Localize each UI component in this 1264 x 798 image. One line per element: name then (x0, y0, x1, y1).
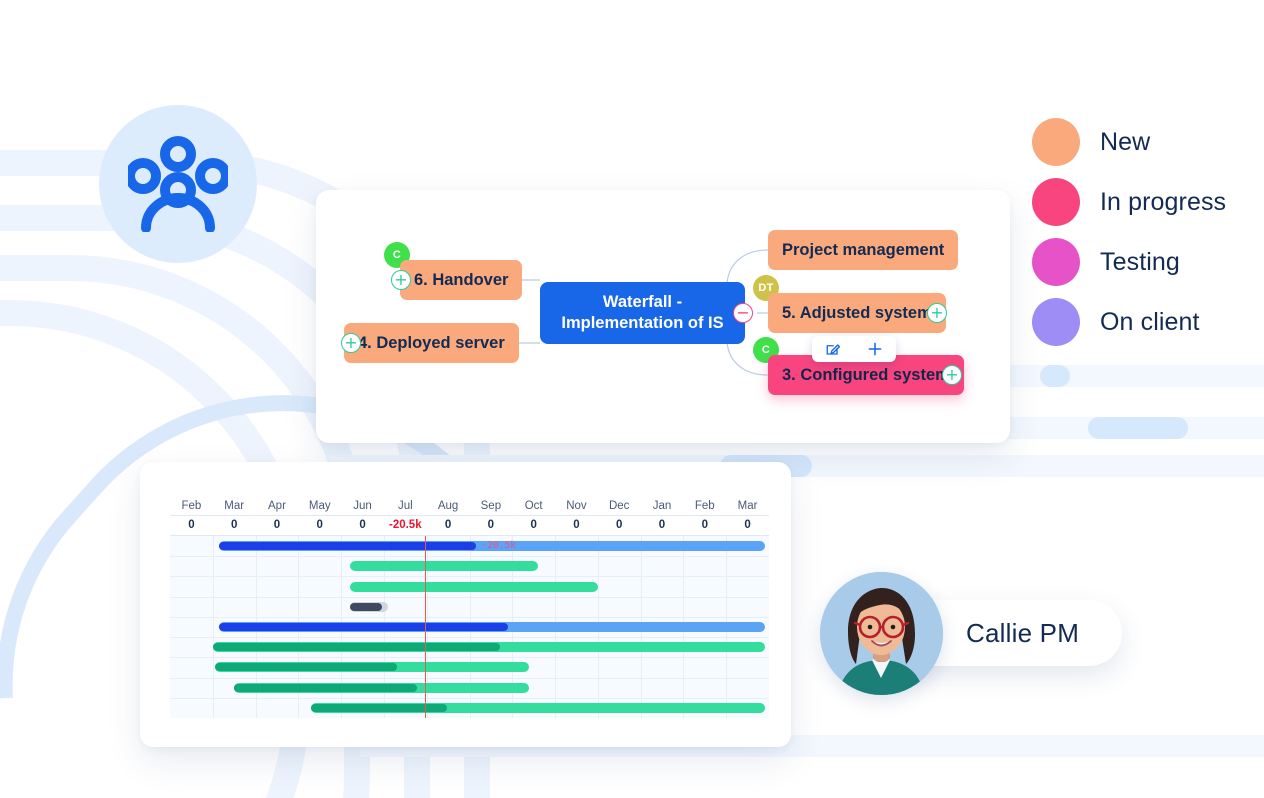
gantt-bar-progress-8 (311, 704, 447, 712)
collapse-button-central[interactable]: − (733, 303, 753, 323)
gantt-value-10: 0 (598, 519, 641, 531)
gantt-bar-progress-6 (215, 663, 397, 671)
gantt-month-may-3: May (298, 500, 341, 515)
gantt-gridline-h-1 (170, 576, 769, 577)
mindmap-card: C 6. Handover + 4. Deployed server + Wat… (316, 190, 1010, 443)
gantt-month-mar-13: Mar (726, 500, 769, 515)
legend-item-on-client[interactable]: On client (1032, 298, 1226, 346)
plus-icon[interactable] (867, 341, 883, 357)
gantt-value-11: 0 (641, 519, 684, 531)
team-collaboration-icon (99, 105, 257, 263)
avatar-initials-configured-system: C (762, 344, 770, 356)
team-icon-svg (128, 136, 228, 232)
avatar-photo-illustration (820, 572, 943, 695)
gantt-month-nov-9: Nov (555, 500, 598, 515)
expand-button-adjusted-system[interactable]: + (927, 303, 947, 323)
mindmap-node-deployed-server-label: 4. Deployed server (358, 334, 505, 353)
gantt-month-feb-0: Feb (170, 500, 213, 515)
gantt-bar-progress-5 (213, 643, 500, 651)
mindmap-central-node[interactable]: Waterfall - Implementation of IS (540, 282, 745, 344)
gantt-month-header: FebMarAprMayJunJulAugSepOctNovDecJanFebM… (170, 500, 769, 516)
gantt-bar-8[interactable] (311, 703, 765, 713)
legend-item-in-progress[interactable]: In progress (1032, 178, 1226, 226)
gantt-bar-5[interactable] (213, 642, 765, 652)
gantt-value-1: 0 (213, 519, 256, 531)
legend-item-testing[interactable]: Testing (1032, 238, 1226, 286)
gantt-value-3: 0 (298, 519, 341, 531)
mindmap-node-handover[interactable]: 6. Handover (400, 260, 522, 300)
mindmap-node-adjusted-system-label: 5. Adjusted system (782, 304, 932, 323)
gantt-value-0: 0 (170, 519, 213, 531)
gantt-month-apr-2: Apr (256, 500, 299, 515)
mindmap-central-line1: Waterfall - (603, 292, 682, 313)
gantt-bar-2[interactable] (350, 582, 598, 592)
gantt-gridline-h-3 (170, 617, 769, 618)
gantt-bar-3[interactable] (350, 602, 389, 612)
gantt-gridline-h-0 (170, 556, 769, 557)
gantt-gridline-h-4 (170, 637, 769, 638)
mindmap-node-handover-label: 6. Handover (414, 271, 508, 290)
gantt-bar-4[interactable] (219, 622, 765, 632)
bg-pill-3 (1088, 417, 1188, 439)
gantt-bar-progress-7 (234, 684, 417, 692)
mindmap-node-configured-system-label: 3. Configured system (782, 366, 950, 385)
gantt-gridline-v-1 (213, 536, 214, 718)
mindmap-node-project-management[interactable]: Project management (768, 230, 958, 270)
node-context-toolbar[interactable] (812, 336, 896, 362)
gantt-bars-area[interactable]: -20.5k (170, 536, 769, 718)
gantt-value-2: 0 (256, 519, 299, 531)
gantt-bar-7[interactable] (234, 683, 529, 693)
gantt-month-feb-12: Feb (683, 500, 726, 515)
gantt-bar-6[interactable] (215, 662, 529, 672)
person-name: Callie PM (966, 618, 1079, 649)
expand-button-handover[interactable]: + (391, 270, 411, 290)
expand-button-configured-system[interactable]: + (942, 365, 962, 385)
gantt-chart: FebMarAprMayJunJulAugSepOctNovDecJanFebM… (170, 500, 769, 724)
gantt-bar-progress-3 (350, 603, 383, 611)
gantt-value-4: 0 (341, 519, 384, 531)
gantt-bar-label-0: -20.5k (482, 540, 516, 551)
gantt-month-jul-5: Jul (384, 500, 427, 515)
plus-icon: + (394, 272, 407, 288)
gantt-bar-progress-4 (219, 623, 508, 631)
gantt-value-row: 00000-20.5k00000000 (170, 516, 769, 536)
gantt-bar-progress-0 (219, 542, 475, 550)
edit-icon[interactable] (825, 342, 840, 357)
gantt-today-marker (425, 536, 426, 718)
bg-pill-1 (1040, 365, 1070, 387)
gantt-bar-1[interactable] (350, 561, 538, 571)
gantt-value-13: 0 (726, 519, 769, 531)
gantt-chart-card: FebMarAprMayJunJulAugSepOctNovDecJanFebM… (140, 462, 791, 747)
expand-button-deployed-server[interactable]: + (341, 333, 361, 353)
legend-item-new[interactable]: New (1032, 118, 1226, 166)
legend-label-testing: Testing (1100, 248, 1180, 277)
gantt-gridline-h-6 (170, 678, 769, 679)
legend-dot-testing (1032, 238, 1080, 286)
gantt-value-7: 0 (469, 519, 512, 531)
status-legend: New In progress Testing On client (1032, 118, 1226, 346)
mindmap-node-project-management-label: Project management (782, 241, 944, 260)
gantt-value-8: 0 (512, 519, 555, 531)
gantt-month-oct-8: Oct (512, 500, 555, 515)
gantt-gridline-h-5 (170, 657, 769, 658)
legend-label-in-progress: In progress (1100, 188, 1226, 217)
mindmap-node-adjusted-system[interactable]: 5. Adjusted system (768, 293, 946, 333)
plus-icon: + (344, 335, 357, 351)
gantt-month-mar-1: Mar (213, 500, 256, 515)
gantt-gridline-h-7 (170, 698, 769, 699)
plus-icon: + (945, 367, 958, 383)
gantt-value-9: 0 (555, 519, 598, 531)
avatar-initials-adjusted-system: DT (758, 282, 773, 294)
mindmap-node-deployed-server[interactable]: 4. Deployed server (344, 323, 519, 363)
legend-dot-on-client (1032, 298, 1080, 346)
gantt-month-jun-4: Jun (341, 500, 384, 515)
gantt-value-5: -20.5k (384, 519, 427, 531)
mindmap-central-line2: Implementation of IS (561, 313, 723, 334)
legend-dot-new (1032, 118, 1080, 166)
hero-illustration: New In progress Testing On client C 6 (0, 0, 1264, 798)
gantt-value-12: 0 (683, 519, 726, 531)
legend-label-new: New (1100, 128, 1150, 157)
legend-label-on-client: On client (1100, 308, 1200, 337)
avatar[interactable] (820, 572, 943, 695)
gantt-value-6: 0 (427, 519, 470, 531)
plus-icon: + (930, 305, 943, 321)
gantt-month-jan-11: Jan (641, 500, 684, 515)
gantt-month-sep-7: Sep (469, 500, 512, 515)
avatar-initials-handover: C (393, 249, 401, 261)
gantt-month-dec-10: Dec (598, 500, 641, 515)
gantt-gridline-h-2 (170, 597, 769, 598)
gantt-month-aug-6: Aug (427, 500, 470, 515)
minus-icon: − (736, 305, 749, 321)
legend-dot-in-progress (1032, 178, 1080, 226)
